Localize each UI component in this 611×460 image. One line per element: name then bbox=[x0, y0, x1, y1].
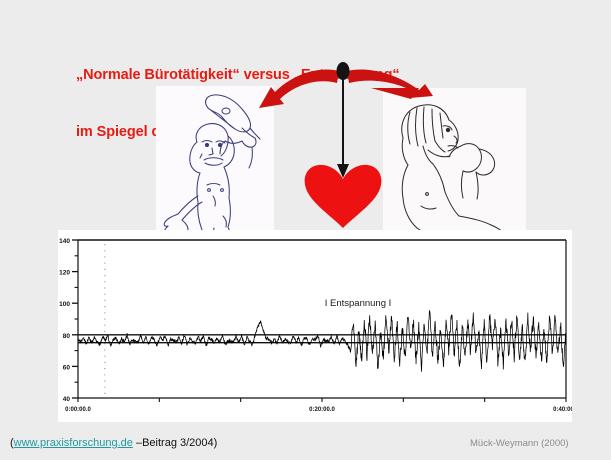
chart-annotation-label: I Entspannung I bbox=[325, 298, 392, 309]
x-tick-label: 0:00:00.0 bbox=[65, 407, 91, 413]
praxisforschung-link[interactable]: www.praxisforschung.de bbox=[14, 437, 133, 449]
footer-credit: Mück-Weymann (2000) bbox=[470, 438, 569, 449]
curved-arrow-right-icon bbox=[347, 70, 433, 99]
y-tick-label: 140 bbox=[59, 238, 70, 245]
footer-beitrag-text: –Beitrag 3/2004) bbox=[133, 437, 217, 449]
curved-arrow-left-icon bbox=[259, 70, 339, 108]
y-tick-label: 120 bbox=[59, 270, 70, 277]
y-tick-label: 100 bbox=[59, 301, 70, 308]
y-tick-label: 80 bbox=[63, 333, 71, 340]
slide-canvas: „Normale Bürotätigkeit“ versus „Entspann… bbox=[0, 0, 611, 460]
y-tick-label: 40 bbox=[63, 396, 71, 403]
footer-source: (www.praxisforschung.de –Beitrag 3/2004) bbox=[10, 437, 217, 449]
heart-rate-chart: 4060801001201400:00:00.00:20:00.00:40:00… bbox=[58, 230, 572, 422]
chart-svg: 4060801001201400:00:00.00:20:00.00:40:00… bbox=[58, 230, 572, 422]
x-tick-label: 0:20:00.0 bbox=[309, 407, 335, 413]
x-tick-label: 0:40:00.0 bbox=[553, 407, 572, 413]
y-tick-label: 60 bbox=[63, 364, 71, 371]
arrow-heart-graphic bbox=[253, 58, 443, 238]
arrow-down-icon bbox=[337, 74, 349, 178]
